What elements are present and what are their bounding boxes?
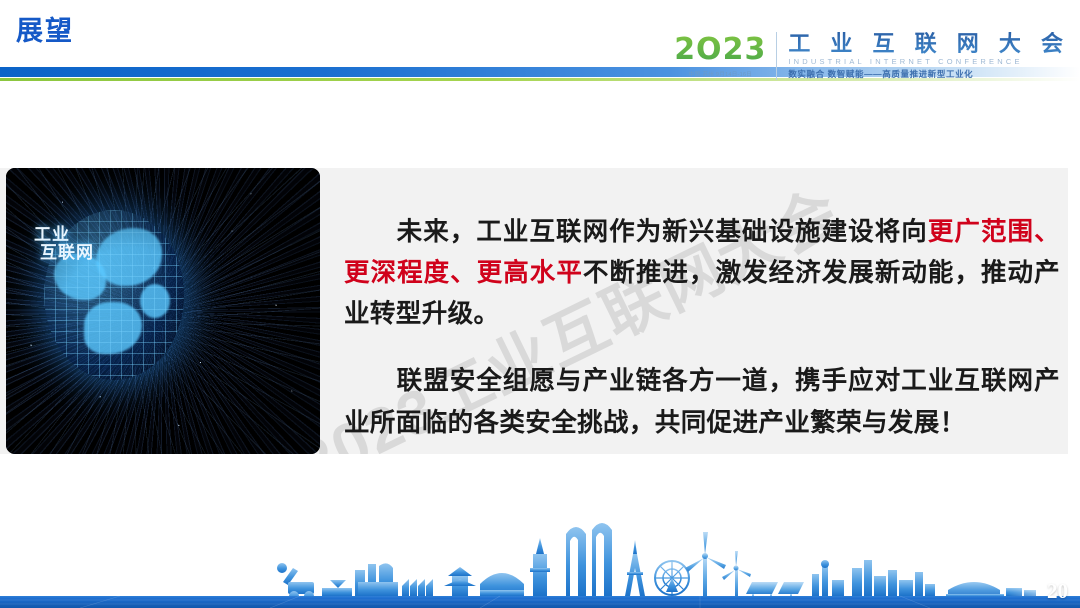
conference-logo: 2O23 中国·苏州 9月14日-16日 工 业 互 联 网 大 会 INDUS… [674,28,1070,84]
vignette-overlay [6,168,320,454]
conference-date: 中国·苏州 9月14日-16日 [689,69,752,77]
footer-band [0,596,1080,608]
conference-logo-right: 工 业 互 联 网 大 会 INDUSTRIAL INTERNET CONFER… [777,28,1070,84]
globe-caption: 工业 互联网 [34,226,94,262]
conference-name-en: INDUSTRIAL INTERNET CONFERENCE [788,57,1070,66]
paragraph-2-segment-1: 联盟安全组愿与产业链各方一道，携手应对工业互联网产业所面临的各类安全挑战，共同促… [344,367,1060,436]
paragraph-1: 未来，工业互联网作为新兴基础设施建设将向更广范围、更深程度、更高水平不断推进，激… [344,212,1060,336]
illustration-digital-globe: 工业 互联网 [6,168,320,454]
skyline-graphic [0,510,1080,608]
footer-skyline: 20 [0,510,1080,608]
body-text: 未来，工业互联网作为新兴基础设施建设将向更广范围、更深程度、更高水平不断推进，激… [344,186,1060,469]
page-number: 20 [1047,579,1068,604]
conference-year: 2O23 [674,35,766,65]
conference-slogan: 数实融合 数智赋能——高质量推进新型工业化 [788,68,1070,80]
paragraph-2: 联盟安全组愿与产业链各方一道，携手应对工业互联网产业所面临的各类安全挑战，共同促… [344,361,1060,444]
page-title: 展望 [16,18,74,45]
conference-name-cn: 工 业 互 联 网 大 会 [788,32,1070,55]
globe-caption-line2: 互联网 [34,244,94,262]
skyline-energy [685,532,804,598]
globe-caption-line1: 工业 [34,225,70,244]
skyline-fade-left [0,510,400,596]
conference-logo-left: 2O23 中国·苏州 9月14日-16日 [674,28,776,84]
paragraph-1-segment-1: 未来，工业互联网作为新兴基础设施建设将向 [396,218,928,246]
